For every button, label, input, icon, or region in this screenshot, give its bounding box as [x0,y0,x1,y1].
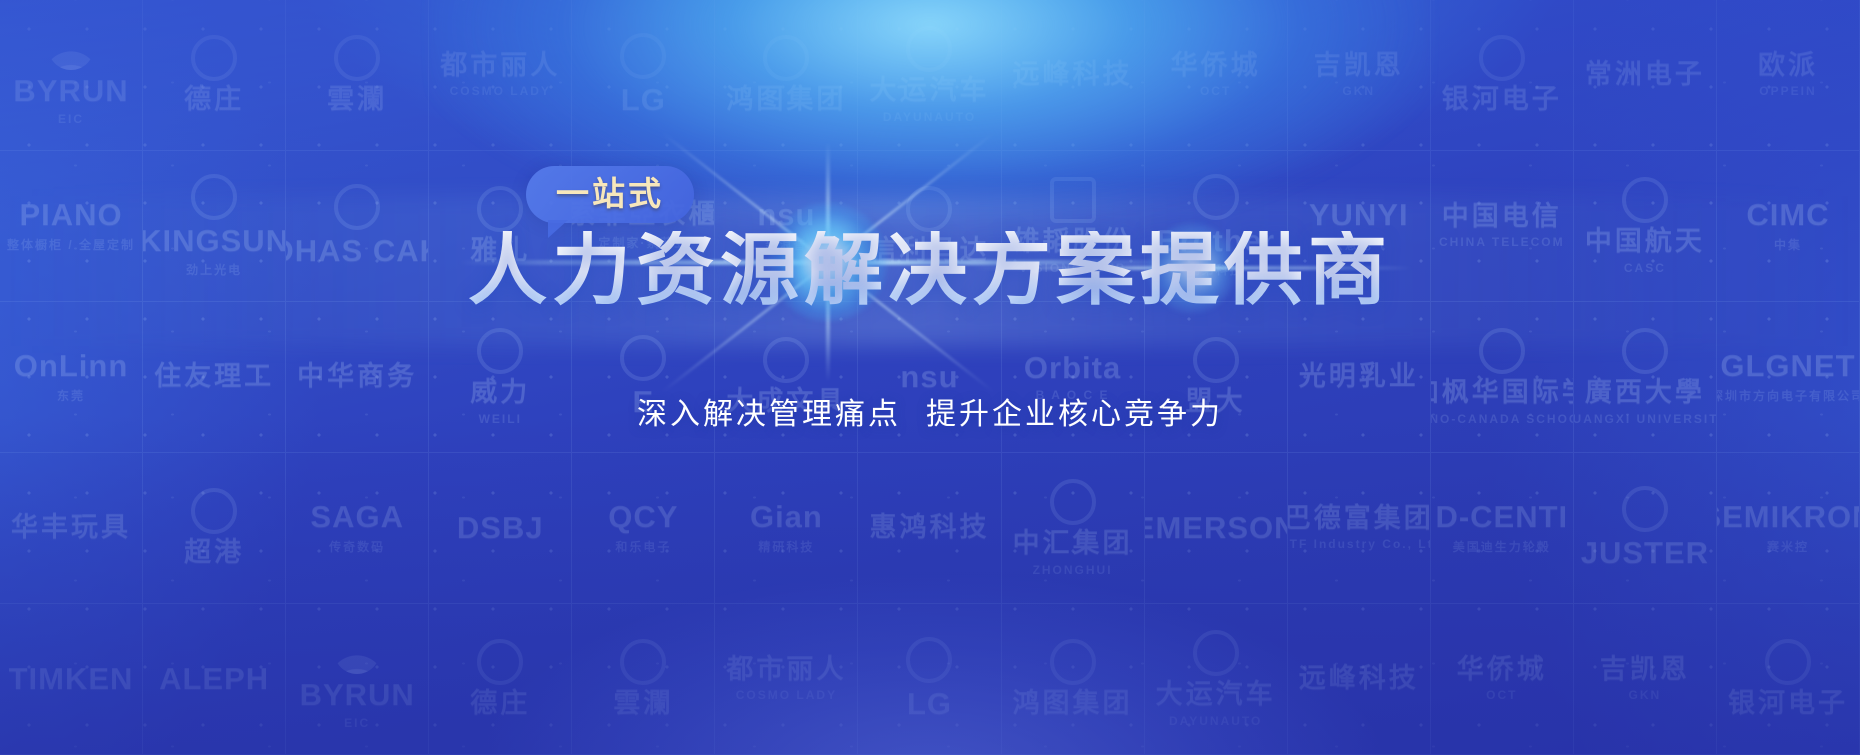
page-title: 人力资源解决方案提供商 [468,231,1392,310]
page-subtitle: 深入解决管理痛点 提升企业核心竞争力 [637,389,1223,433]
hero-content: 一站式 人力资源解决方案提供商 深入解决管理痛点 提升企业核心竞争力 [0,0,1860,755]
badge-wrapper: 一站式 [526,166,694,223]
badge-label: 一站式 [556,174,664,213]
hero-banner: BYRUNEIC德庄雲瀾都市丽人COSMO LADYLG鸿图集团大运汽车DAYU… [0,0,1860,755]
one-stop-badge[interactable]: 一站式 [526,166,694,223]
